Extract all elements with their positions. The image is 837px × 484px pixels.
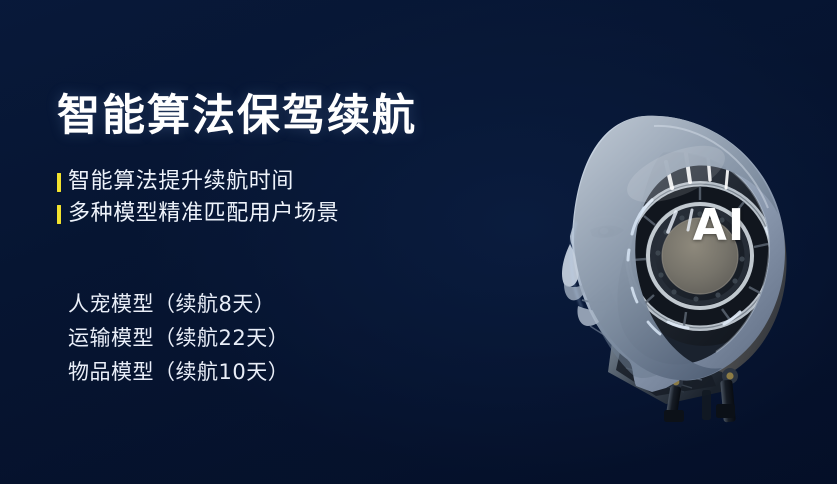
bullet-marker-icon: [57, 173, 61, 192]
bullet-marker-icon: [57, 205, 61, 224]
text-column: 智能算法保驾续航 智能算法提升续航时间 多种模型精准匹配用户场景 人宠模型（续航…: [57, 92, 487, 389]
list-item: 智能算法提升续航时间: [57, 166, 487, 198]
slide-root: 智能算法保驾续航 智能算法提升续航时间 多种模型精准匹配用户场景 人宠模型（续航…: [0, 0, 837, 484]
list-item: 多种模型精准匹配用户场景: [57, 198, 487, 230]
bullet-label: 智能算法提升续航时间: [68, 171, 294, 193]
robot-head-illustration: AI: [516, 104, 816, 424]
page-title: 智能算法保驾续航: [57, 92, 487, 140]
bullet-label: 多种模型精准匹配用户场景: [68, 203, 339, 225]
model-list: 人宠模型（续航8天） 运输模型（续航22天） 物品模型（续航10天）: [57, 287, 487, 389]
list-item: 物品模型（续航10天）: [68, 355, 487, 389]
bullet-list: 智能算法提升续航时间 多种模型精准匹配用户场景: [57, 166, 487, 230]
list-item: 运输模型（续航22天）: [68, 321, 487, 355]
list-item: 人宠模型（续航8天）: [68, 287, 487, 321]
